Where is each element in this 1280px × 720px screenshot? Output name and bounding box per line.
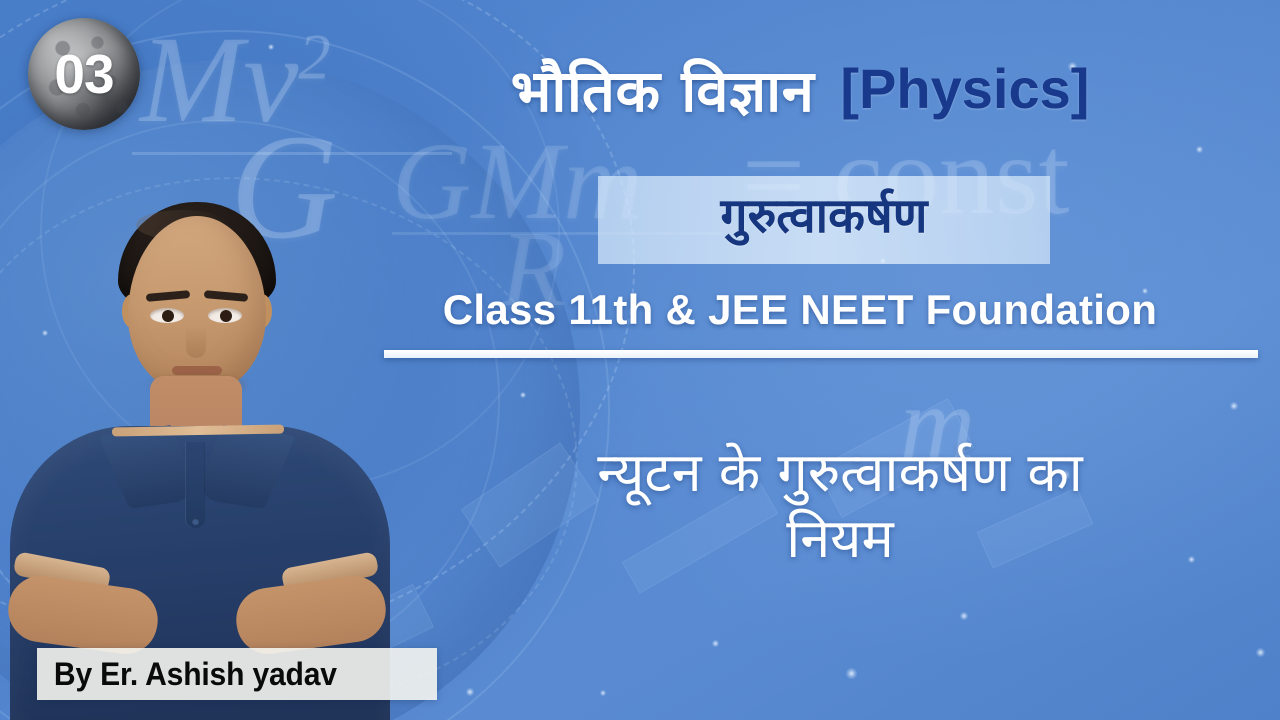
episode-badge: 03 [28,18,140,130]
title-native: भौतिक विज्ञान [511,49,815,128]
presenter-pupil [220,310,232,322]
presenter-pupil [162,310,174,322]
star-particle [466,688,474,696]
topic-title: न्यूटन के गुरुत्वाकर्षण का नियम [420,440,1260,572]
presenter-placket [186,442,204,528]
title-english: [Physics] [840,56,1089,121]
topic-line-1: न्यूटन के गुरुत्वाकर्षण का [420,440,1260,506]
byline-banner: By Er. Ashish yadav [37,648,437,700]
subject-title: गुरुत्वाकर्षण [598,182,1050,247]
video-thumbnail: Mv2 G GMm R = const m 03 [0,0,1280,720]
presenter-shirt-button [192,518,199,525]
page-title: भौतिक विज्ञान [Physics] [340,40,1260,136]
episode-number: 03 [54,42,113,106]
divider [384,350,1258,358]
star-particle [520,392,526,398]
watermark-mv-squared: Mv2 [140,18,331,142]
presenter-portrait [0,130,392,720]
presenter-nose [186,326,206,358]
star-particle [1256,648,1265,657]
course-subtitle: Class 11th & JEE NEET Foundation [340,286,1260,334]
star-particle [268,44,274,50]
star-particle [600,690,606,696]
star-particle [1230,402,1238,410]
star-particle [712,640,719,647]
star-particle [1196,146,1203,153]
byline-text: By Er. Ashish yadav [37,656,337,693]
star-particle [846,668,857,679]
star-particle [960,612,968,620]
topic-line-2: नियम [420,506,1260,572]
